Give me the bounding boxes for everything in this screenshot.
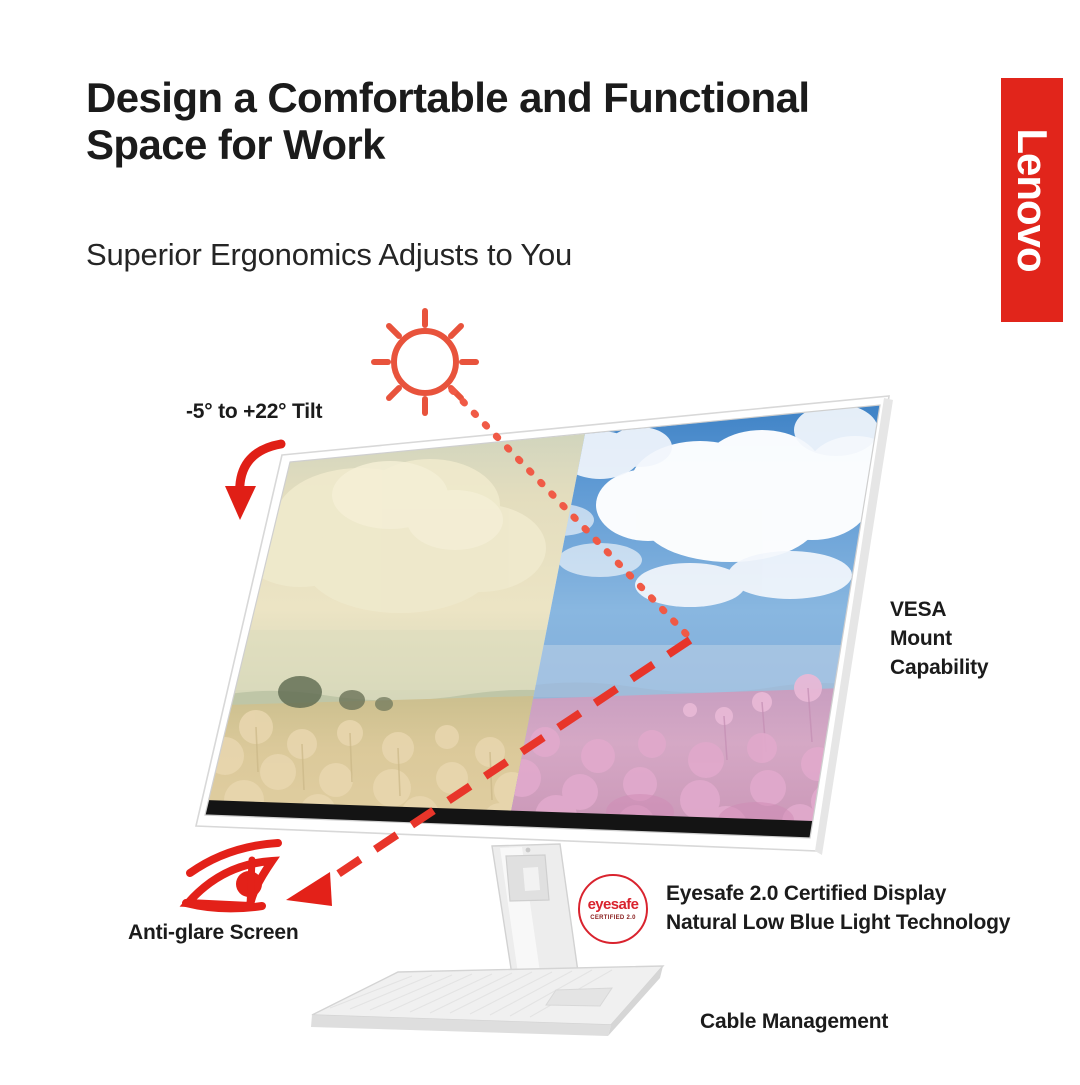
tilt-callout-label: -5° to +22° Tilt	[186, 400, 322, 424]
stand-base-top	[312, 966, 663, 1025]
eyesafe-callout-label: Eyesafe 2.0 Certified Display Natural Lo…	[666, 879, 1010, 938]
stand-base-right	[608, 966, 663, 1036]
monitor-side-edge	[815, 398, 893, 855]
sun-icon	[374, 311, 476, 413]
screen-right-half-vivid	[500, 395, 903, 850]
monitor-bezel	[196, 396, 889, 851]
cable-management-callout-label: Cable Management	[700, 1010, 888, 1034]
infographic-canvas: Design a Comfortable and Functional Spac…	[0, 0, 1080, 1080]
screen-outline	[205, 405, 880, 838]
vesa-line-2: Mount	[890, 625, 988, 654]
stand-base-texture	[330, 970, 612, 1017]
curved-down-arrow-icon	[225, 444, 281, 520]
cable-management-slot	[506, 855, 549, 901]
stand-base-groove	[546, 988, 612, 1006]
headline-line-1: Design a Comfortable and Functional	[86, 74, 976, 121]
stand-base-front	[311, 1015, 611, 1036]
vesa-callout-label: VESA Mount Capability	[890, 596, 988, 682]
monitor-screen	[190, 395, 903, 850]
lenovo-logo: Lenovo	[1001, 78, 1063, 322]
anti-glare-eye-icon	[186, 843, 278, 908]
screen-left-half-warm	[190, 420, 600, 850]
subheading: Superior Ergonomics Adjusts to You	[86, 236, 926, 273]
eyesafe-certified-badge: eyesafe CERTIFIED 2.0	[578, 874, 648, 944]
headline-line-2: Space for Work	[86, 121, 976, 168]
reflected-ray-arrowhead	[286, 872, 332, 906]
eyesafe-badge-word: eyesafe	[588, 897, 639, 912]
eyesafe-line-2: Natural Low Blue Light Technology	[666, 908, 1010, 937]
eyesafe-line-1: Eyesafe 2.0 Certified Display	[666, 879, 1010, 908]
bottom-bezel	[205, 800, 813, 840]
anti-glare-callout-label: Anti-glare Screen	[128, 921, 299, 945]
vesa-line-3: Capability	[890, 654, 988, 683]
stand-neck	[492, 844, 578, 975]
dotted-light-ray	[452, 390, 690, 638]
dashed-reflected-ray	[320, 640, 690, 886]
vesa-line-1: VESA	[890, 596, 988, 625]
eyesafe-badge-certified: CERTIFIED 2.0	[590, 915, 636, 921]
page-title: Design a Comfortable and Functional Spac…	[86, 74, 976, 169]
stand-neck-highlight	[500, 847, 540, 974]
lenovo-logo-text: Lenovo	[1008, 128, 1056, 271]
